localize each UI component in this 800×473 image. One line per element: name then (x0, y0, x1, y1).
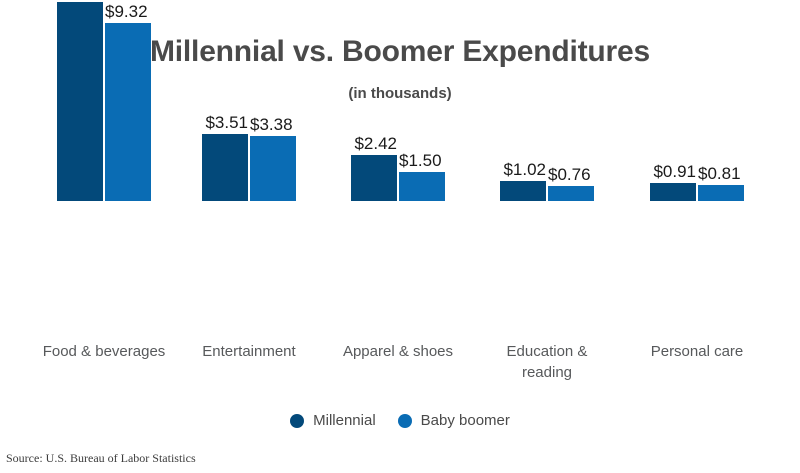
bar-value-label-boomer: $1.50 (399, 151, 442, 172)
category-label-line1: Personal care (622, 341, 772, 362)
category-label-entertainment: Entertainment (174, 341, 324, 362)
bar-wrap-boomer: $9.32 (103, 23, 151, 201)
legend-item-millennial[interactable]: Millennial (290, 412, 376, 430)
bar-wrap-boomer: $0.81 (696, 185, 744, 201)
category-label-education-reading: Education & reading (472, 341, 622, 383)
bar-value-label-millennial: $0.91 (653, 162, 696, 183)
source-note: Source: U.S. Bureau of Labor Statistics (6, 451, 196, 465)
category-label-food-beverages: Food & beverages (25, 341, 183, 362)
bar-wrap-millennial: $3.51 (202, 134, 248, 201)
chart-legend: Millennial Baby boomer (0, 412, 800, 430)
bar-value-label-boomer: $9.32 (105, 2, 148, 23)
bar-wrap-millennial: $1.02 (500, 181, 546, 201)
bar-wrap-millennial: $2.42 (351, 155, 397, 201)
legend-label-millennial: Millennial (313, 412, 376, 430)
bar-pair: $2.42 $1.50 (323, 0, 473, 201)
bar-value-label-millennial: $1.02 (503, 160, 546, 181)
legend-item-baby-boomer[interactable]: Baby boomer (398, 412, 510, 430)
bar-pair: $0.91 $0.81 (622, 0, 772, 201)
bar-wrap-millennial: $10.4 (57, 2, 103, 201)
bar-wrap-millennial: $0.91 (650, 183, 696, 201)
bar-millennial[interactable] (500, 181, 546, 201)
bar-value-label-millennial: $2.42 (354, 134, 397, 155)
legend-swatch-icon-millennial (290, 414, 304, 428)
bar-value-label-boomer: $0.76 (548, 165, 591, 186)
bar-group-food-beverages: $10.4 $9.32 Food & beverages (25, 0, 183, 340)
category-label-line1: Food & beverages (25, 341, 183, 362)
category-label-line1: Apparel & shoes (323, 341, 473, 362)
bar-millennial[interactable] (351, 155, 397, 201)
bar-value-label-boomer: $0.81 (698, 164, 741, 185)
bar-group-entertainment: $3.51 $3.38 Entertainment (174, 0, 324, 340)
bar-wrap-boomer: $0.76 (546, 186, 594, 201)
bar-boomer[interactable] (250, 136, 296, 201)
bar-value-label-millennial: $3.51 (205, 113, 248, 134)
category-label-line1: Entertainment (174, 341, 324, 362)
legend-swatch-icon-baby-boomer (398, 414, 412, 428)
bar-boomer[interactable] (548, 186, 594, 201)
bar-chart: Millennial vs. Boomer Expenditures (in t… (0, 0, 800, 473)
bar-pair: $10.4 $9.32 (25, 0, 183, 201)
bar-value-label-millennial: $10.4 (60, 0, 103, 2)
bar-group-personal-care: $0.91 $0.81 Personal care (622, 0, 772, 340)
category-label-line1: Education & (472, 341, 622, 362)
bar-wrap-boomer: $3.38 (248, 136, 296, 201)
bar-millennial[interactable] (57, 2, 103, 201)
bar-boomer[interactable] (105, 23, 151, 201)
bar-pair: $3.51 $3.38 (174, 0, 324, 201)
bar-millennial[interactable] (202, 134, 248, 201)
category-label-apparel-shoes: Apparel & shoes (323, 341, 473, 362)
bar-value-label-boomer: $3.38 (250, 115, 293, 136)
bar-boomer[interactable] (399, 172, 445, 201)
legend-label-baby-boomer: Baby boomer (421, 412, 510, 430)
plot-area: $10.4 $9.32 Food & beverages $3.51 (0, 0, 800, 340)
category-label-line2: reading (472, 362, 622, 383)
category-label-personal-care: Personal care (622, 341, 772, 362)
bar-pair: $1.02 $0.76 (472, 0, 622, 201)
bar-group-education-reading: $1.02 $0.76 Education & reading (472, 0, 622, 340)
bar-wrap-boomer: $1.50 (397, 172, 445, 201)
bar-group-apparel-shoes: $2.42 $1.50 Apparel & shoes (323, 0, 473, 340)
bar-millennial[interactable] (650, 183, 696, 201)
bar-boomer[interactable] (698, 185, 744, 201)
